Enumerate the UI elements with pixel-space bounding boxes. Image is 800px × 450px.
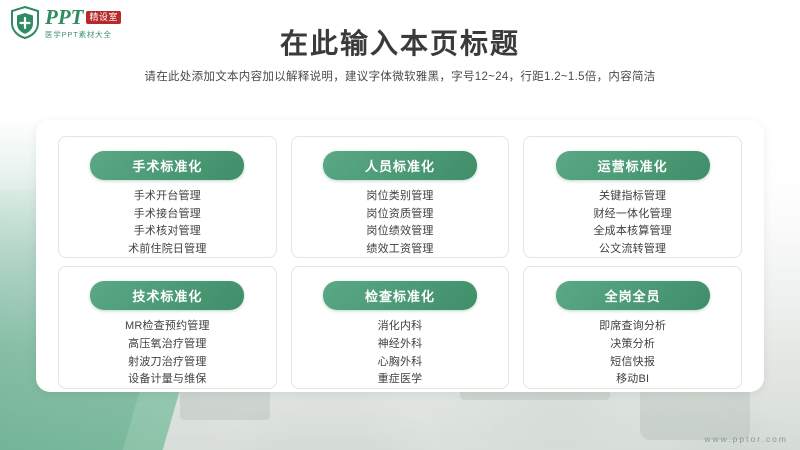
list-item: 财经一体化管理: [593, 207, 671, 223]
page-title: 在此输入本页标题: [0, 22, 800, 62]
category-items: 消化内科 神经外科 心胸外科 重症医学: [378, 319, 423, 387]
list-item: 移动BI: [616, 372, 649, 388]
content-card: 手术标准化 手术开台管理 手术接台管理 手术核对管理 术前住院日管理 人员标准化…: [36, 120, 764, 392]
category-title: 手术标准化: [90, 151, 244, 180]
category-grid: 手术标准化 手术开台管理 手术接台管理 手术核对管理 术前住院日管理 人员标准化…: [58, 136, 742, 376]
list-item: 短信快报: [610, 355, 655, 371]
list-item: MR检查预约管理: [125, 319, 210, 335]
category-title: 全岗全员: [556, 281, 710, 310]
list-item: 设备计量与维保: [128, 372, 206, 388]
list-item: 岗位绩效管理: [366, 224, 433, 240]
category-items: 关键指标管理 财经一体化管理 全成本核算管理 公文流转管理: [593, 189, 671, 257]
category-items: 即席查询分析 决策分析 短信快报 移动BI: [599, 319, 666, 387]
page-subtitle: 请在此处添加文本内容加以解释说明，建议字体微软雅黑，字号12~24，行距1.2~…: [0, 68, 800, 84]
category-cell[interactable]: 人员标准化 岗位类别管理 岗位资质管理 岗位绩效管理 绩效工资管理: [291, 136, 510, 258]
list-item: 术前住院日管理: [128, 242, 206, 258]
category-cell[interactable]: 检查标准化 消化内科 神经外科 心胸外科 重症医学: [291, 266, 510, 388]
list-item: 决策分析: [610, 337, 655, 353]
category-items: 手术开台管理 手术接台管理 手术核对管理 术前住院日管理: [128, 189, 206, 257]
list-item: 绩效工资管理: [366, 242, 433, 258]
list-item: 神经外科: [378, 337, 423, 353]
list-item: 公文流转管理: [599, 242, 666, 258]
list-item: 岗位类别管理: [366, 189, 433, 205]
list-item: 消化内科: [378, 319, 423, 335]
category-cell[interactable]: 技术标准化 MR检查预约管理 高压氧治疗管理 射波刀治疗管理 设备计量与维保: [58, 266, 277, 388]
list-item: 手术开台管理: [134, 189, 201, 205]
list-item: 手术核对管理: [134, 224, 201, 240]
category-cell[interactable]: 运营标准化 关键指标管理 财经一体化管理 全成本核算管理 公文流转管理: [523, 136, 742, 258]
category-title: 人员标准化: [323, 151, 477, 180]
list-item: 关键指标管理: [599, 189, 666, 205]
list-item: 高压氧治疗管理: [128, 337, 206, 353]
category-title: 运营标准化: [556, 151, 710, 180]
category-title: 检查标准化: [323, 281, 477, 310]
list-item: 重症医学: [378, 372, 423, 388]
category-items: 岗位类别管理 岗位资质管理 岗位绩效管理 绩效工资管理: [366, 189, 433, 257]
category-title: 技术标准化: [90, 281, 244, 310]
watermark: www.pptor.com: [704, 434, 788, 444]
category-cell[interactable]: 手术标准化 手术开台管理 手术接台管理 手术核对管理 术前住院日管理: [58, 136, 277, 258]
category-cell[interactable]: 全岗全员 即席查询分析 决策分析 短信快报 移动BI: [523, 266, 742, 388]
list-item: 即席查询分析: [599, 319, 666, 335]
category-items: MR检查预约管理 高压氧治疗管理 射波刀治疗管理 设备计量与维保: [125, 319, 210, 387]
list-item: 岗位资质管理: [366, 207, 433, 223]
list-item: 全成本核算管理: [593, 224, 671, 240]
list-item: 手术接台管理: [134, 207, 201, 223]
list-item: 射波刀治疗管理: [128, 355, 206, 371]
list-item: 心胸外科: [378, 355, 423, 371]
